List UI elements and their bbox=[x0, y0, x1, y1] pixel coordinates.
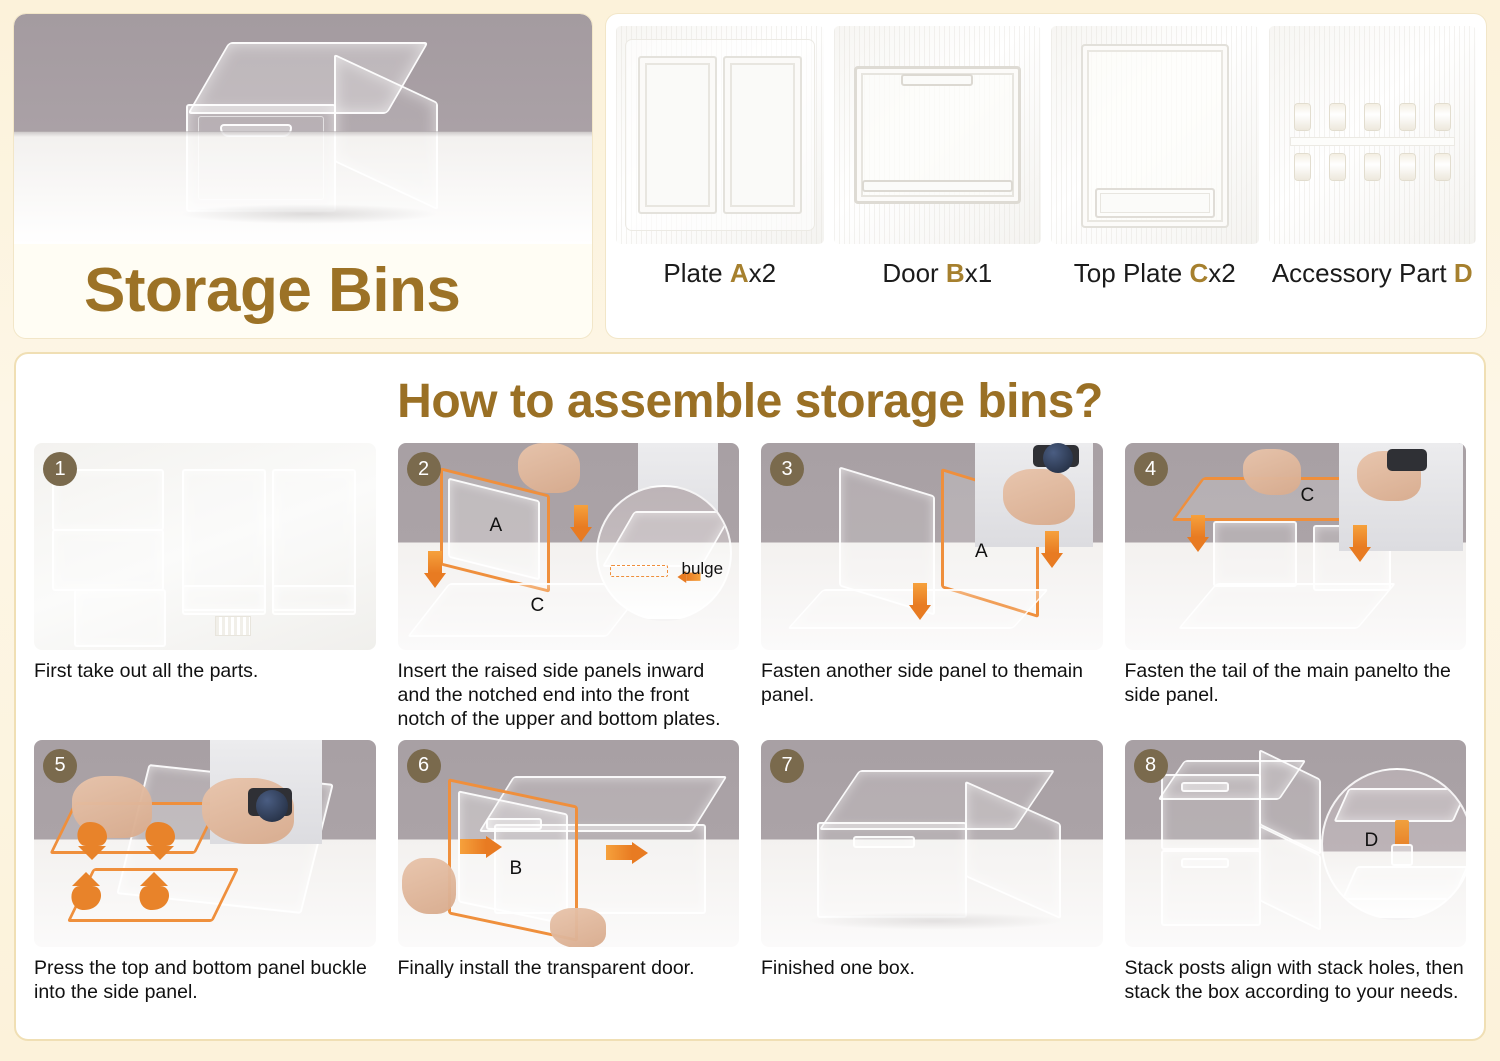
arrow-down-center bbox=[909, 583, 931, 620]
part-label-a: Plate Ax2 bbox=[663, 258, 776, 289]
parts-list-panel: Plate Ax2 Door Bx1 Top bbox=[606, 14, 1486, 338]
infographic-page: Storage Bins Plate Ax2 bbox=[0, 0, 1500, 1061]
box-handle bbox=[853, 836, 915, 848]
part-flat-c1-rail bbox=[182, 585, 266, 615]
stack-hole bbox=[1391, 844, 1413, 866]
top-plate-c-thumbnail bbox=[1051, 26, 1259, 244]
assembly-steps-grid: 1 First take out all the parts. 2 bbox=[34, 443, 1466, 1004]
step-3-badge: 3 bbox=[770, 452, 804, 486]
bottom-plate bbox=[1177, 583, 1396, 629]
step-4-image: 4 C bbox=[1125, 443, 1467, 650]
part-flat-door bbox=[74, 589, 166, 647]
part-item-d: Accessory Part D bbox=[1269, 26, 1477, 330]
part-name-c: Top Plate bbox=[1074, 258, 1190, 288]
step-1-image: 1 bbox=[34, 443, 376, 650]
assembly-step-7: 7 Finished one box. bbox=[761, 740, 1103, 1004]
bulge-marker bbox=[610, 565, 668, 577]
door-b-bottom-rail bbox=[862, 180, 1014, 192]
step-4-label-c: C bbox=[1301, 485, 1315, 507]
inset-upper-rim bbox=[1333, 788, 1466, 822]
wristwatch-face bbox=[1043, 443, 1073, 473]
part-code-b: B bbox=[946, 258, 965, 288]
step-8-caption: Stack posts align with stack holes, then… bbox=[1125, 956, 1467, 1004]
door-b-handle bbox=[901, 74, 973, 86]
arrow-down-right bbox=[570, 505, 592, 542]
step-6-caption: Finally install the transparent door. bbox=[398, 956, 740, 980]
step-7-caption: Finished one box. bbox=[761, 956, 1103, 980]
step-8-magnifier-inset: D bbox=[1321, 768, 1467, 920]
step-3-image: 3 A bbox=[761, 443, 1103, 650]
part-name-d: Accessory Part bbox=[1272, 258, 1454, 288]
step-2-magnifier-inset: bulge bbox=[596, 485, 732, 621]
box-shadow bbox=[807, 912, 1063, 930]
accessory-pin bbox=[1295, 154, 1310, 180]
part-flat-c2-rail bbox=[272, 585, 356, 615]
part-label-c: Top Plate Cx2 bbox=[1074, 258, 1236, 289]
part-code-c: C bbox=[1189, 258, 1208, 288]
step-7-badge: 7 bbox=[770, 749, 804, 783]
curved-arrow-bottom-right bbox=[138, 868, 268, 916]
hero-title-bar: Storage Bins bbox=[14, 244, 592, 338]
part-item-b: Door Bx1 bbox=[834, 26, 1042, 330]
door-handle bbox=[486, 818, 542, 830]
top-section: Storage Bins Plate Ax2 bbox=[14, 14, 1486, 338]
step-6-badge: 6 bbox=[407, 749, 441, 783]
plate-a-body bbox=[626, 40, 814, 230]
accessory-pin bbox=[1400, 104, 1415, 130]
part-flat-accessory bbox=[216, 617, 250, 635]
curved-arrow-top-right bbox=[144, 816, 274, 864]
arrow-down-right bbox=[1349, 525, 1371, 562]
upper-box-handle bbox=[1181, 782, 1229, 792]
step-2-image: 2 A C bbox=[398, 443, 740, 650]
hand-left bbox=[402, 858, 456, 914]
assembly-heading: How to assemble storage bins? bbox=[34, 374, 1466, 429]
step-1-caption: First take out all the parts. bbox=[34, 659, 376, 683]
arrow-down-right bbox=[1041, 531, 1063, 568]
accessory-pin bbox=[1295, 104, 1310, 130]
top-plate-c-rail bbox=[1095, 188, 1215, 218]
step-2-caption: Insert the raised side panels inward and… bbox=[398, 659, 740, 732]
step-2-label-a: A bbox=[490, 515, 503, 537]
part-item-a: Plate Ax2 bbox=[616, 26, 824, 330]
assembly-step-2: 2 A C bbox=[398, 443, 740, 732]
part-name-a: Plate bbox=[663, 258, 730, 288]
inset-lower-rim bbox=[1341, 866, 1466, 900]
bin-handle bbox=[220, 124, 292, 137]
arrow-right-box bbox=[606, 842, 648, 864]
step-2-badge: 2 bbox=[407, 452, 441, 486]
part-item-c: Top Plate Cx2 bbox=[1051, 26, 1259, 330]
accessory-pin-row-top bbox=[1295, 104, 1451, 130]
bin-side-face bbox=[334, 54, 438, 210]
lower-box-handle bbox=[1181, 858, 1229, 868]
step-8-badge: 8 bbox=[1134, 749, 1168, 783]
step-7-image: 7 bbox=[761, 740, 1103, 947]
step-6-label-b: B bbox=[510, 858, 523, 880]
step-8-label-d: D bbox=[1365, 830, 1379, 852]
assembly-step-5: 5 bbox=[34, 740, 376, 1004]
accessory-pin bbox=[1330, 154, 1345, 180]
assembly-step-1: 1 First take out all the parts. bbox=[34, 443, 376, 732]
door-b-thumbnail bbox=[834, 26, 1042, 244]
accessory-pin bbox=[1400, 154, 1415, 180]
part-label-d: Accessory Part D bbox=[1272, 258, 1473, 289]
accessory-pin bbox=[1435, 154, 1450, 180]
part-name-b: Door bbox=[882, 258, 946, 288]
assembly-step-4: 4 C Fasten the bbox=[1125, 443, 1467, 732]
hero-panel: Storage Bins bbox=[14, 14, 592, 338]
assembly-step-6: 6 B Finally install the tr bbox=[398, 740, 740, 1004]
storage-bin-illustration bbox=[174, 42, 444, 217]
step-1-badge: 1 bbox=[43, 452, 77, 486]
accessory-rail bbox=[1291, 138, 1455, 145]
step-5-image: 5 bbox=[34, 740, 376, 947]
part-qty-a: x2 bbox=[749, 258, 776, 288]
accessory-pin bbox=[1330, 104, 1345, 130]
assembly-step-8: 8 D Stack posts alig bbox=[1125, 740, 1467, 1004]
wristwatch-band bbox=[1387, 449, 1427, 471]
page-title: Storage Bins bbox=[84, 260, 460, 322]
part-code-d: D bbox=[1454, 258, 1473, 288]
assembly-step-3: 3 A Fasten another side pa bbox=[761, 443, 1103, 732]
side-panel-left bbox=[1213, 521, 1297, 587]
step-6-image: 6 B bbox=[398, 740, 740, 947]
part-label-b: Door Bx1 bbox=[882, 258, 992, 289]
step-2-label-bulge: bulge bbox=[682, 559, 724, 579]
hand-left bbox=[518, 443, 580, 493]
arrow-right-door bbox=[460, 836, 502, 858]
part-qty-c: x2 bbox=[1208, 258, 1235, 288]
assembly-panel: How to assemble storage bins? 1 First ta… bbox=[14, 352, 1486, 1041]
hand-left bbox=[1243, 449, 1301, 495]
hand-right bbox=[550, 908, 606, 947]
plate-a-cell-left bbox=[638, 56, 717, 214]
hero-product-photo bbox=[14, 14, 592, 244]
plate-a-cell-right bbox=[723, 56, 802, 214]
arrow-down-left bbox=[1187, 515, 1209, 552]
step-4-badge: 4 bbox=[1134, 452, 1168, 486]
accessory-pin bbox=[1435, 104, 1450, 130]
accessory-pin bbox=[1365, 104, 1380, 130]
accessory-part-d-thumbnail bbox=[1269, 26, 1477, 244]
accessory-pin bbox=[1365, 154, 1380, 180]
stack-post-d bbox=[1395, 820, 1409, 846]
bin-shadow bbox=[180, 204, 438, 224]
step-5-badge: 5 bbox=[43, 749, 77, 783]
step-3-label-a: A bbox=[975, 541, 988, 563]
part-code-a: A bbox=[730, 258, 749, 288]
step-3-caption: Fasten another side panel to themain pan… bbox=[761, 659, 1103, 707]
step-8-image: 8 D bbox=[1125, 740, 1467, 947]
hand-right bbox=[1003, 469, 1075, 525]
accessory-pin-row-bottom bbox=[1295, 154, 1451, 180]
step-2-label-c: C bbox=[531, 595, 545, 617]
step-5-caption: Press the top and bottom panel buckle in… bbox=[34, 956, 376, 1004]
part-flat-a2 bbox=[52, 529, 164, 591]
arrow-down-left bbox=[424, 551, 446, 588]
plate-a-thumbnail bbox=[616, 26, 824, 244]
step-4-caption: Fasten the tail of the main panelto the … bbox=[1125, 659, 1467, 707]
part-qty-b: x1 bbox=[965, 258, 992, 288]
